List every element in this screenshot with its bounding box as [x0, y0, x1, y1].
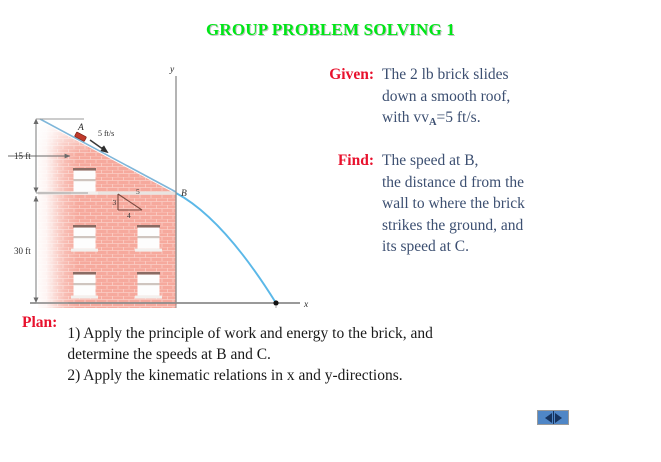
find-line-1: The speed at B, [382, 150, 525, 172]
plan-text: 1) Apply the principle of work and energ… [57, 313, 433, 386]
find-label: Find: [312, 150, 374, 172]
find-line-3: wall to where the brick [382, 193, 525, 215]
next-arrow-icon[interactable] [555, 413, 562, 423]
plan-line-2: determine the speeds at B and C. [67, 344, 433, 365]
given-line-3-pre: with v [382, 109, 421, 126]
given-line-1: The 2 lb brick slides [382, 64, 510, 86]
find-block: Find: The speed at B, the distance d fro… [312, 150, 657, 258]
slide-navigation-control[interactable] [537, 410, 569, 425]
window [71, 225, 98, 252]
slope-hypotenuse-label: 5 [136, 187, 140, 196]
given-text: The 2 lb brick slides down a smooth roof… [374, 64, 510, 133]
nav-divider [553, 411, 554, 424]
window [135, 225, 162, 252]
previous-arrow-icon[interactable] [545, 413, 552, 423]
dimension-upper-label: 15 ft [14, 151, 31, 161]
find-line-5: its speed at C. [382, 236, 525, 258]
velocity-a-symbol: v [421, 109, 429, 126]
window [71, 168, 98, 195]
plan-block: Plan: 1) Apply the principle of work and… [22, 313, 622, 386]
given-line-3: with vvA=5 ft/s. [382, 107, 510, 133]
trajectory-curve [176, 193, 276, 303]
given-block: Given: The 2 lb brick slides down a smoo… [312, 64, 657, 133]
given-line-3-post: =5 ft/s. [437, 109, 481, 126]
diagram-svg: 3 4 5 A 5 ft/s y x B [8, 58, 318, 308]
slope-vertical-label: 3 [113, 198, 117, 207]
plan-label: Plan: [22, 313, 57, 333]
plan-line-3: 2) Apply the kinematic relations in x an… [67, 365, 433, 386]
problem-diagram: 3 4 5 A 5 ft/s y x B [8, 58, 318, 308]
dimension-lower-label: 30 ft [14, 246, 31, 256]
x-axis-label: x [303, 300, 309, 308]
slope-horizontal-label: 4 [127, 211, 131, 220]
point-a-label: A [77, 123, 84, 133]
y-axis-label: y [169, 65, 175, 75]
velocity-a-subscript: A [429, 117, 437, 128]
window [135, 272, 162, 299]
find-line-4: strikes the ground, and [382, 215, 525, 237]
given-label: Given: [312, 64, 374, 86]
page-title: GROUP PROBLEM SOLVING 1 [0, 20, 661, 40]
plan-line-1: 1) Apply the principle of work and energ… [67, 323, 433, 344]
given-line-2: down a smooth roof, [382, 86, 510, 108]
point-c-marker [273, 300, 278, 305]
find-line-2: the distance d from the [382, 172, 525, 194]
problem-statement: Given: The 2 lb brick slides down a smoo… [312, 64, 657, 258]
point-b-label: B [181, 189, 187, 199]
window [71, 272, 98, 299]
find-text: The speed at B, the distance d from the … [374, 150, 525, 258]
velocity-label: 5 ft/s [98, 129, 114, 138]
dimension-distance-d: d [176, 305, 276, 308]
